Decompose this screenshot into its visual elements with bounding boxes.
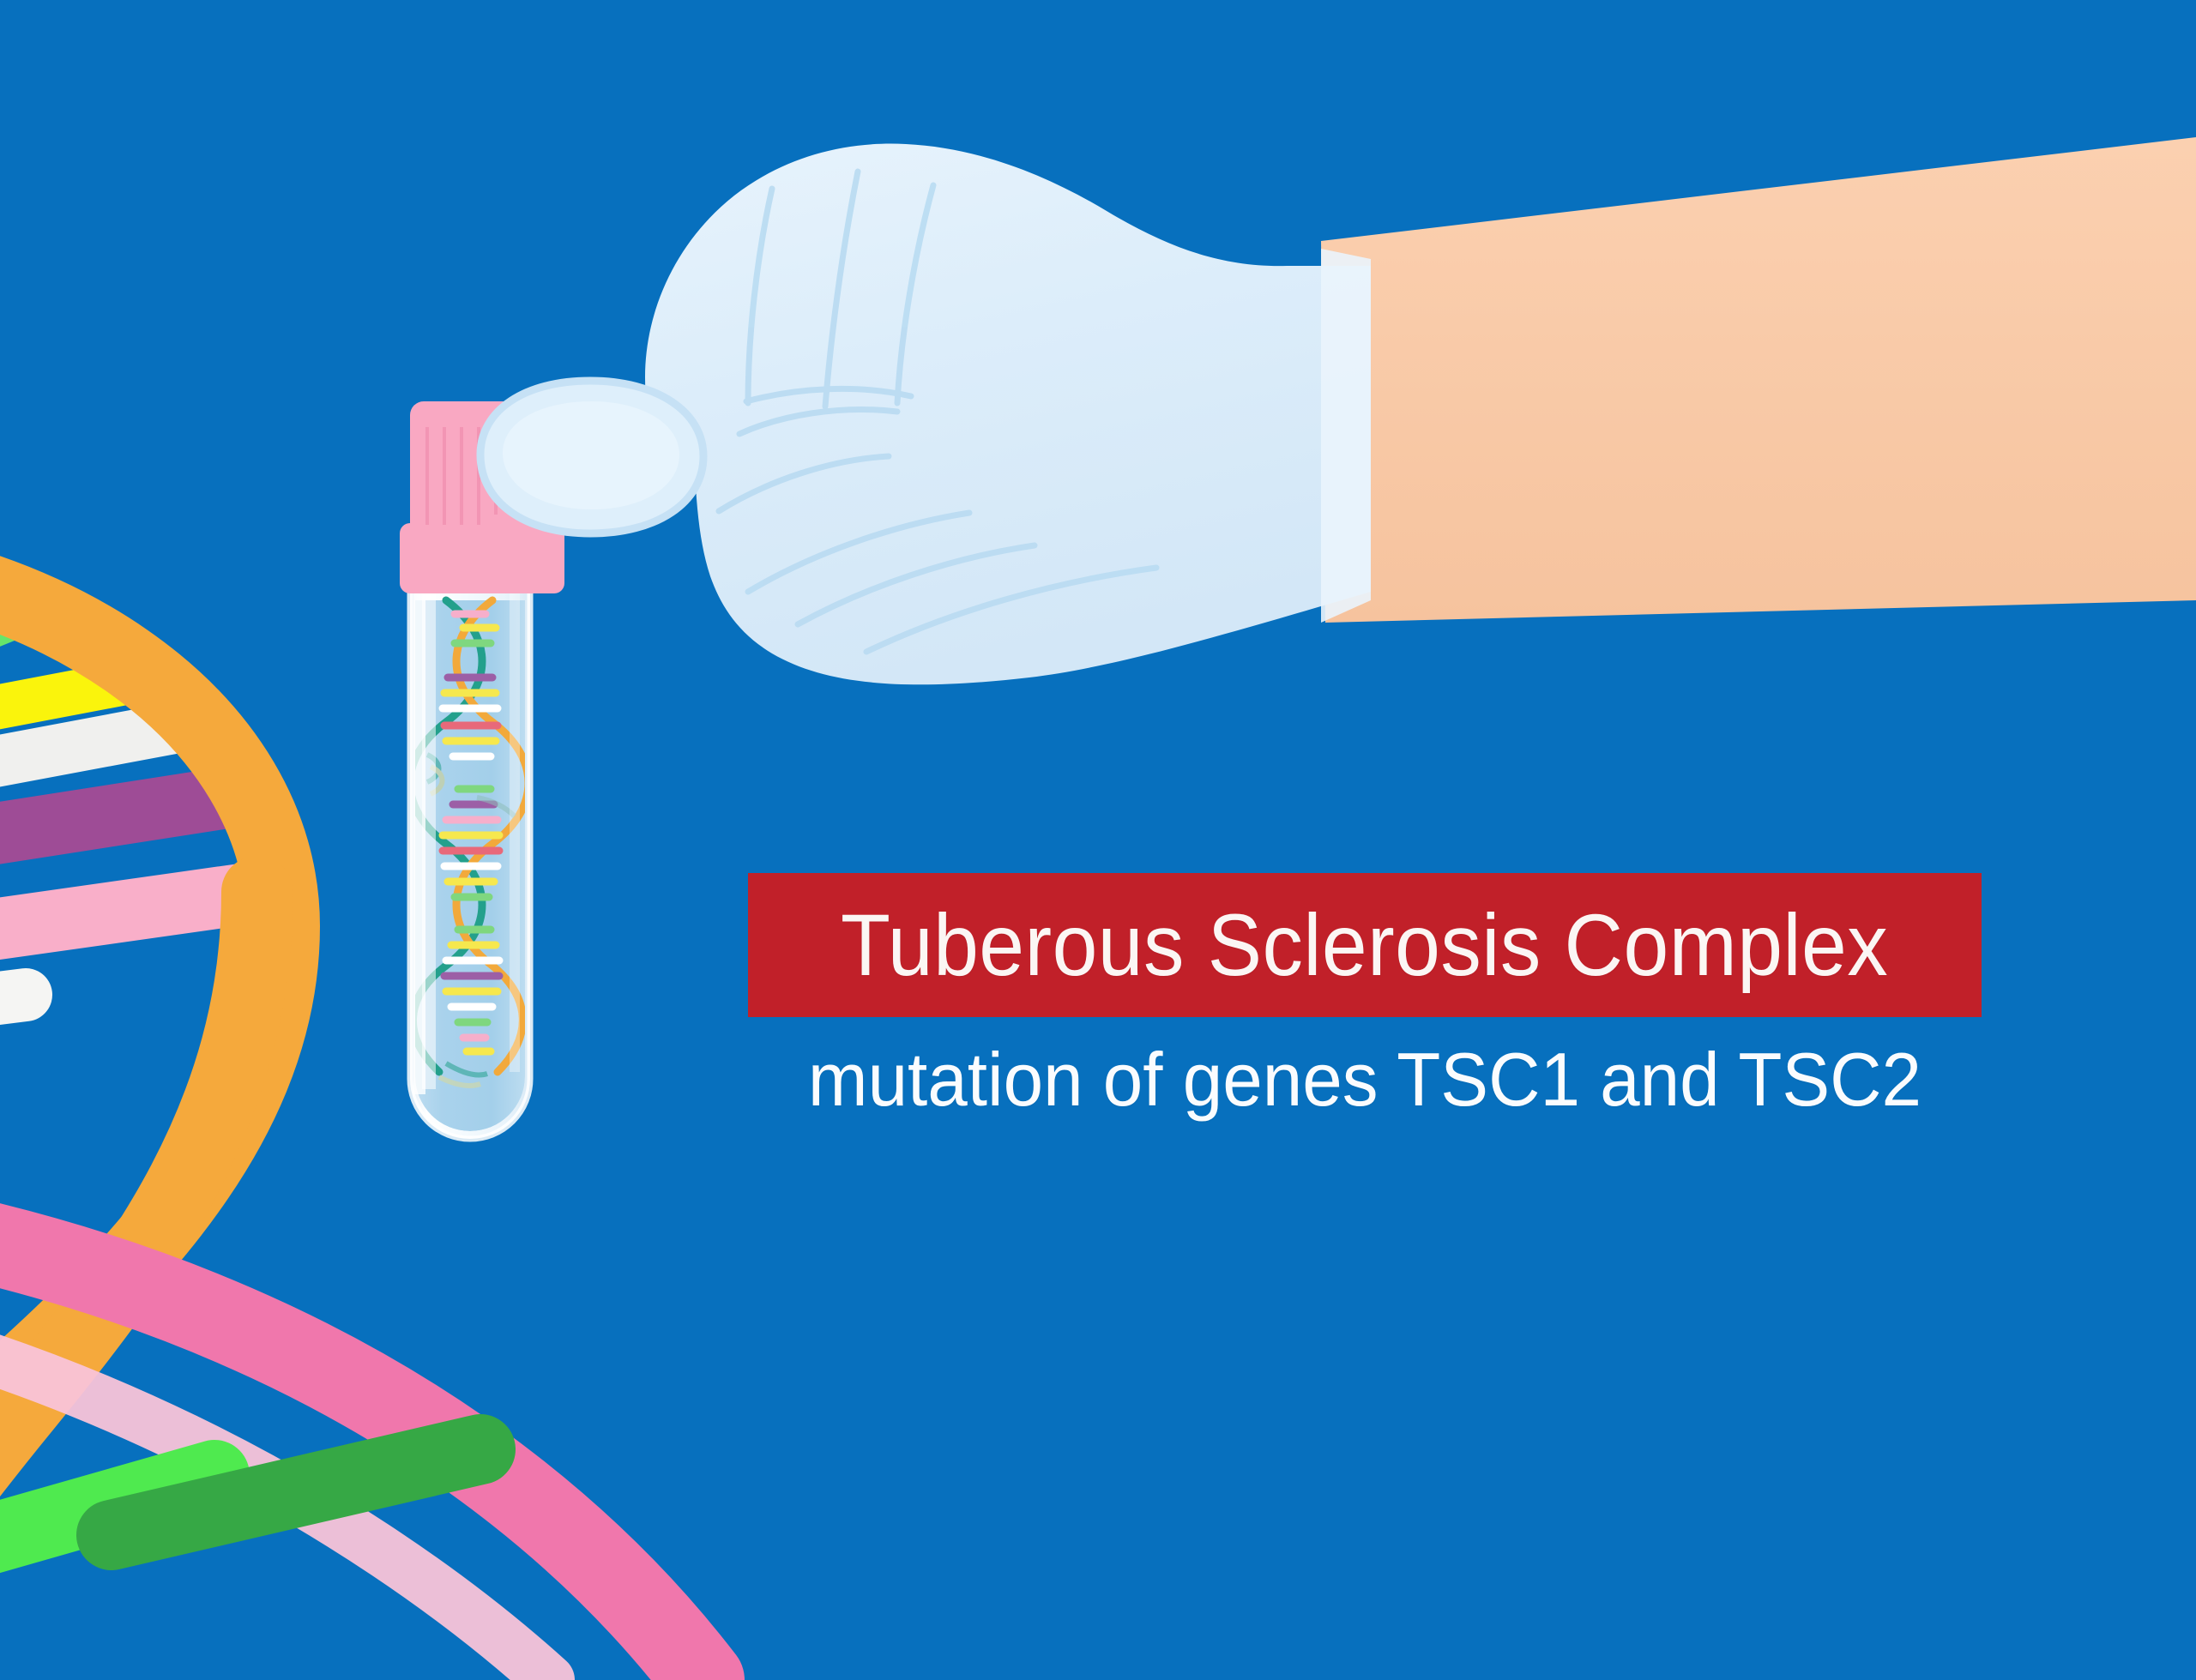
forearm	[1321, 137, 2196, 623]
glove-cuff	[1321, 249, 1371, 623]
glove-body	[645, 144, 1371, 685]
glove-thumb-highlight	[503, 401, 679, 509]
illustration-canvas: Tuberous Sclerosis Complex mutation of g…	[0, 0, 2196, 1680]
subtitle-text: mutation of genes TSC1 and TSC2	[779, 1042, 1951, 1117]
title-banner: Tuberous Sclerosis Complex	[748, 873, 1982, 1017]
title-text: Tuberous Sclerosis Complex	[841, 901, 1888, 989]
gloved-hand	[0, 0, 2196, 1680]
